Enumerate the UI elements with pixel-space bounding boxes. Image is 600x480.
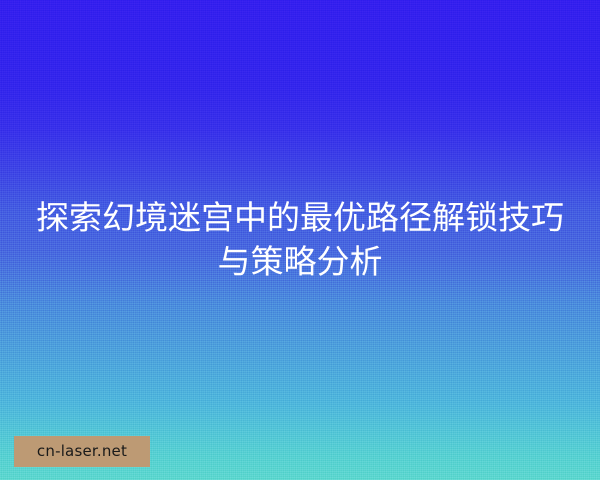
poster-canvas: 探索幻境迷宫中的最优路径解锁技巧与策略分析 cn-laser.net (0, 0, 600, 480)
watermark-badge: cn-laser.net (14, 436, 150, 467)
page-title: 探索幻境迷宫中的最优路径解锁技巧与策略分析 (27, 196, 573, 284)
title-block: 探索幻境迷宫中的最优路径解锁技巧与策略分析 (0, 0, 600, 480)
watermark-label: cn-laser.net (37, 444, 127, 459)
